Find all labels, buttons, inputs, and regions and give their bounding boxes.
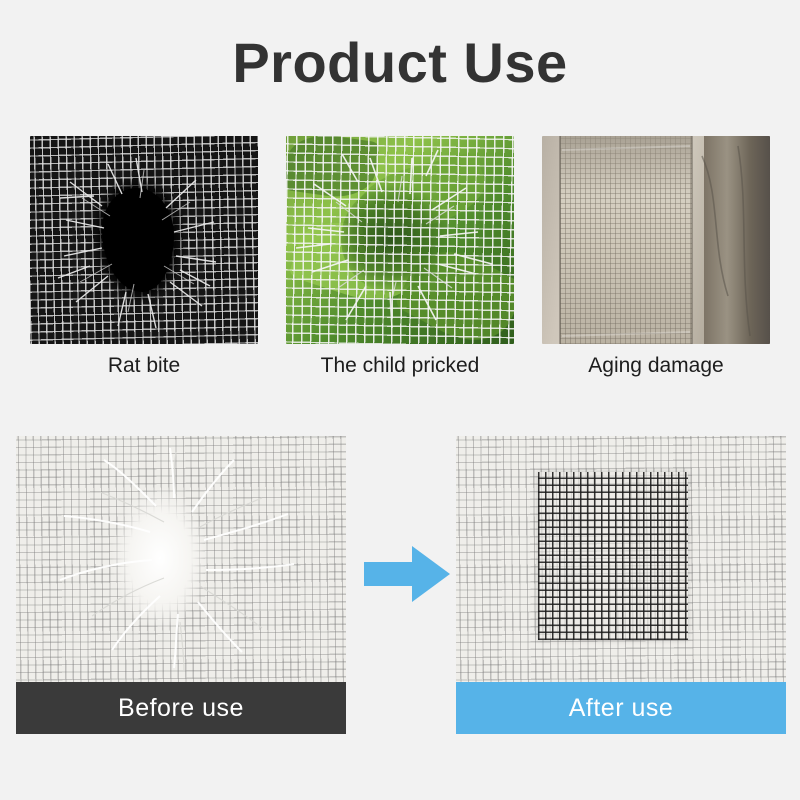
product-use-infographic: Product Use bbox=[0, 0, 800, 800]
damage-caption-child-pricked: The child pricked bbox=[321, 354, 480, 379]
mesh-fray-lines bbox=[286, 136, 514, 344]
after-card: After use bbox=[456, 436, 786, 734]
page-title: Product Use bbox=[0, 30, 800, 95]
before-photo bbox=[16, 436, 346, 682]
after-label: After use bbox=[456, 682, 786, 734]
before-after-comparison: Before use After use bbox=[16, 436, 786, 736]
damage-card-aging-damage: Aging damage bbox=[542, 136, 770, 406]
damage-card-child-pricked: The child pricked bbox=[286, 136, 514, 406]
child-pricked-photo bbox=[286, 136, 514, 344]
arrow-right-icon bbox=[364, 544, 450, 604]
damage-caption-aging-damage: Aging damage bbox=[588, 354, 723, 379]
damage-card-rat-bite: Rat bite bbox=[30, 136, 258, 406]
after-photo bbox=[456, 436, 786, 682]
repair-patch bbox=[538, 472, 688, 640]
damage-examples-row: Rat bite bbox=[30, 136, 770, 406]
before-label: Before use bbox=[16, 682, 346, 734]
rat-bite-photo bbox=[30, 136, 258, 344]
mesh-fray-lines bbox=[30, 136, 258, 344]
damage-caption-rat-bite: Rat bite bbox=[108, 354, 180, 379]
aging-wear-lines bbox=[542, 136, 770, 344]
mesh-fray-lines bbox=[16, 436, 346, 682]
before-card: Before use bbox=[16, 436, 346, 734]
aging-damage-photo bbox=[542, 136, 770, 344]
